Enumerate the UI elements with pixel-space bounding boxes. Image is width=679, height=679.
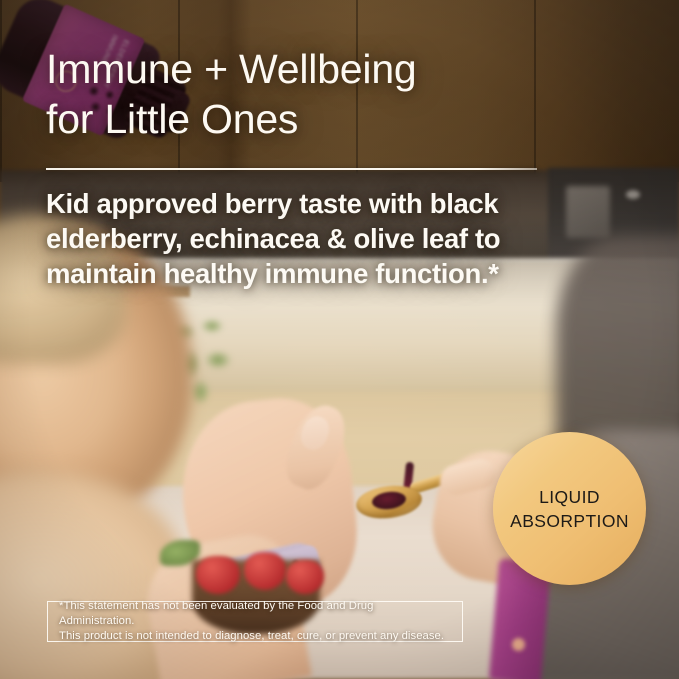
disclaimer-box: *This statement has not been evaluated b… (47, 601, 463, 642)
marketing-image: IMMUNE ELDERBERRY Immune + Wellbeing for… (0, 0, 679, 679)
badge-label: LIQUID ABSORPTION (510, 485, 629, 533)
headline: Immune + Wellbeing for Little Ones (46, 44, 566, 144)
strawberry (286, 560, 324, 594)
appliance-knob (626, 190, 640, 199)
subheadline: Kid approved berry taste with black elde… (46, 186, 566, 291)
strawberry (244, 552, 286, 590)
disclaimer-text: *This statement has not been evaluated b… (59, 599, 451, 644)
divider-rule (46, 168, 537, 170)
appliance-highlight (566, 186, 610, 238)
second-bottle-seal (512, 638, 525, 651)
strawberry (196, 556, 240, 594)
liquid-absorption-badge: LIQUID ABSORPTION (493, 432, 646, 585)
